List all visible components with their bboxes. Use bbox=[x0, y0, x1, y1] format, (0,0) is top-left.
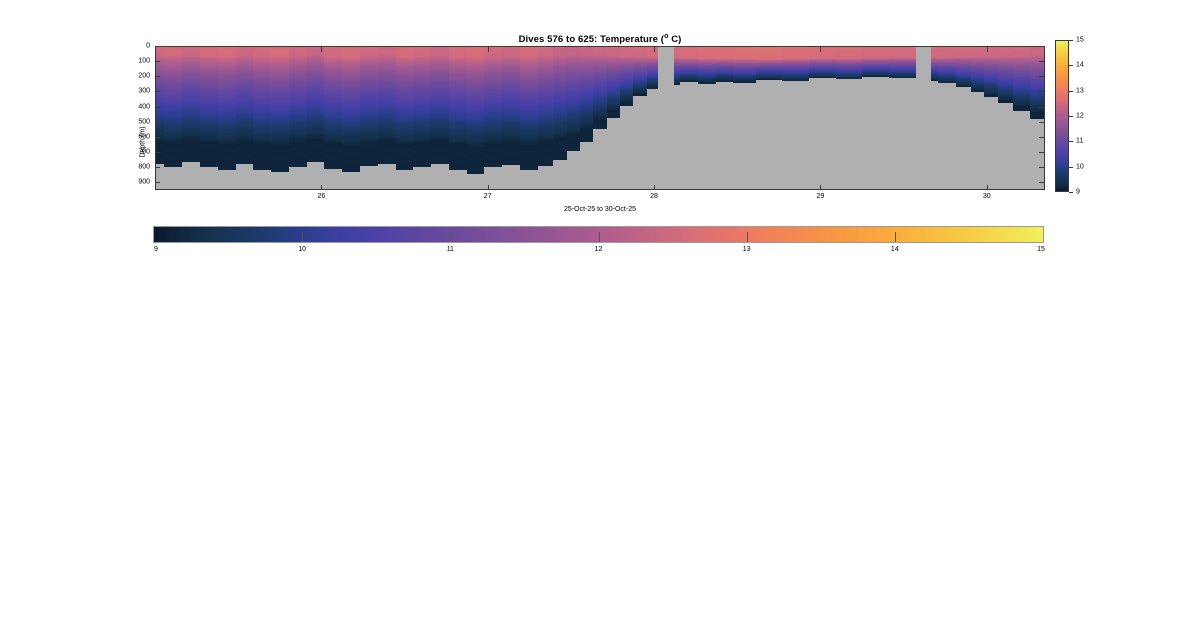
y-tick-label: 0 bbox=[146, 43, 150, 50]
vertical-colorbar-tick-label: 14 bbox=[1076, 62, 1084, 69]
chart-title-tail: C) bbox=[668, 34, 681, 45]
vertical-colorbar-tick-label: 9 bbox=[1076, 189, 1080, 196]
horizontal-colorbar-tick-label: 14 bbox=[891, 246, 899, 253]
vertical-colorbar-tick-mark bbox=[1069, 192, 1073, 193]
y-tick-mark bbox=[155, 46, 160, 47]
y-tick-mark bbox=[155, 182, 160, 183]
y-tick-mark-right bbox=[1039, 107, 1044, 108]
y-tick-label: 400 bbox=[138, 103, 150, 110]
x-tick-mark-top bbox=[654, 47, 655, 52]
horizontal-colorbar-tick-mark bbox=[450, 232, 451, 242]
vertical-colorbar-tick-label: 11 bbox=[1076, 138, 1083, 145]
y-tick-mark-right bbox=[1039, 61, 1044, 62]
y-tick-mark bbox=[155, 122, 160, 123]
vertical-colorbar-tick-mark bbox=[1069, 167, 1073, 168]
horizontal-colorbar-tick-label: 10 bbox=[298, 246, 306, 253]
y-tick-label: 600 bbox=[138, 133, 150, 140]
y-tick-mark bbox=[155, 152, 160, 153]
x-tick-label: 30 bbox=[983, 193, 991, 200]
y-tick-mark-right bbox=[1039, 137, 1044, 138]
x-tick-label: 29 bbox=[817, 193, 825, 200]
y-tick-mark bbox=[155, 61, 160, 62]
vertical-colorbar-tick-mark bbox=[1069, 40, 1073, 41]
x-tick-label: 26 bbox=[317, 193, 325, 200]
x-tick-mark bbox=[987, 185, 988, 190]
y-tick-mark bbox=[155, 167, 160, 168]
x-tick-mark bbox=[654, 185, 655, 190]
x-tick-mark-top bbox=[987, 47, 988, 52]
x-tick-mark bbox=[321, 185, 322, 190]
horizontal-colorbar-tick-mark bbox=[599, 232, 600, 242]
vertical-colorbar-tick-label: 13 bbox=[1076, 87, 1084, 94]
vertical-colorbar[interactable] bbox=[1055, 40, 1069, 192]
y-tick-mark bbox=[155, 91, 160, 92]
x-tick-label: 27 bbox=[484, 193, 492, 200]
y-tick-mark bbox=[155, 137, 160, 138]
horizontal-colorbar-tick-label: 9 bbox=[154, 246, 158, 253]
vertical-colorbar-tick-label: 10 bbox=[1076, 163, 1084, 170]
chart-title-main: Dives 576 to 625: Temperature ( bbox=[519, 34, 664, 45]
x-tick-mark-top bbox=[321, 47, 322, 52]
vertical-colorbar-tick-mark bbox=[1069, 116, 1073, 117]
y-tick-label: 500 bbox=[138, 118, 150, 125]
vertical-colorbar-tick-label: 15 bbox=[1076, 37, 1084, 44]
chart-title: Dives 576 to 625: Temperature (o C) bbox=[155, 33, 1045, 45]
horizontal-colorbar-tick-label: 12 bbox=[595, 246, 603, 253]
horizontal-colorbar-tick-mark bbox=[895, 232, 896, 242]
temperature-section-canvas bbox=[155, 46, 1045, 190]
y-tick-mark-right bbox=[1039, 182, 1044, 183]
y-tick-label: 700 bbox=[138, 149, 150, 156]
temperature-section-plot[interactable] bbox=[155, 46, 1045, 190]
x-tick-mark-top bbox=[820, 47, 821, 52]
y-tick-mark-right bbox=[1039, 76, 1044, 77]
horizontal-colorbar-tick-mark bbox=[302, 232, 303, 242]
x-tick-mark-top bbox=[488, 47, 489, 52]
vertical-colorbar-tick-mark bbox=[1069, 91, 1073, 92]
vertical-colorbar-tick-mark bbox=[1069, 65, 1073, 66]
y-tick-mark-right bbox=[1039, 152, 1044, 153]
vertical-colorbar-tick-mark bbox=[1069, 141, 1073, 142]
y-tick-label: 300 bbox=[138, 88, 150, 95]
x-tick-label: 28 bbox=[650, 193, 658, 200]
x-axis-label: 25-Oct-25 to 30-Oct-25 bbox=[564, 206, 636, 213]
y-tick-label: 100 bbox=[138, 58, 150, 65]
y-tick-mark bbox=[155, 107, 160, 108]
y-tick-label: 200 bbox=[138, 73, 150, 80]
y-tick-label: 900 bbox=[138, 179, 150, 186]
horizontal-colorbar-tick-mark bbox=[747, 232, 748, 242]
y-tick-mark-right bbox=[1039, 167, 1044, 168]
horizontal-colorbar-tick-label: 13 bbox=[743, 246, 751, 253]
y-tick-mark-right bbox=[1039, 91, 1044, 92]
x-tick-mark bbox=[488, 185, 489, 190]
y-tick-mark bbox=[155, 76, 160, 77]
y-tick-mark-right bbox=[1039, 46, 1044, 47]
vertical-colorbar-tick-label: 12 bbox=[1076, 113, 1084, 120]
figure-canvas: Dives 576 to 625: Temperature (o C) Dept… bbox=[0, 0, 1200, 622]
y-tick-label: 800 bbox=[138, 164, 150, 171]
y-tick-mark-right bbox=[1039, 122, 1044, 123]
horizontal-colorbar-tick-label: 11 bbox=[447, 246, 454, 253]
x-tick-mark bbox=[820, 185, 821, 190]
horizontal-colorbar-tick-label: 15 bbox=[1037, 246, 1045, 253]
